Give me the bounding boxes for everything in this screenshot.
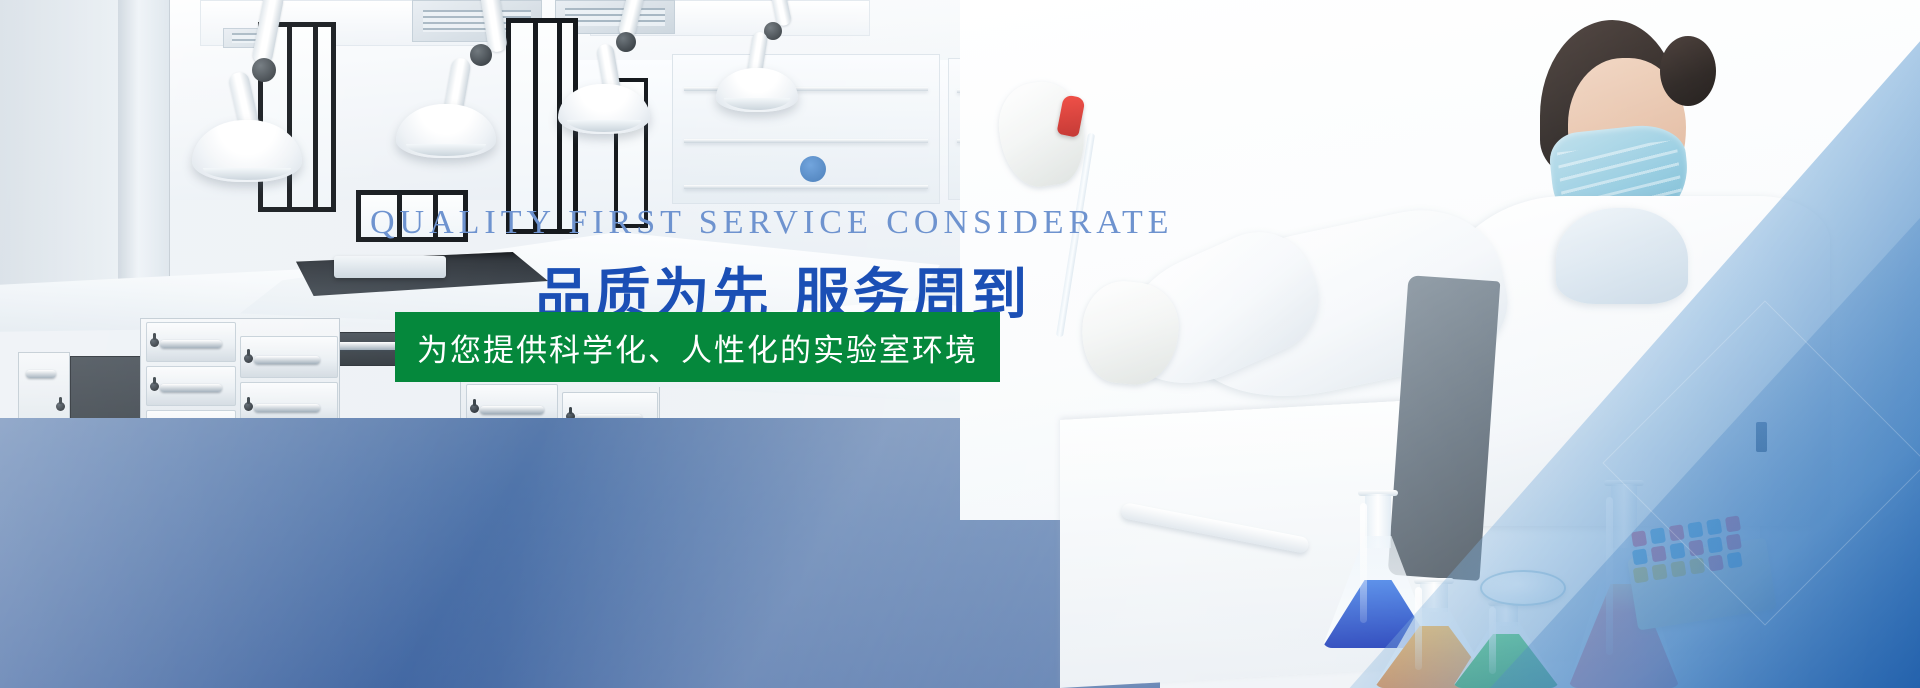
subtitle-chinese: 为您提供科学化、人性化的实验室环境 [417,325,978,370]
english-tagline: QUALITY FIRST SERVICE CONSIDERATE [370,204,1030,242]
banner-text-overlay: QUALITY FIRST SERVICE CONSIDERATE 品质为先 服… [0,0,1920,688]
lab-hero-banner: QUALITY FIRST SERVICE CONSIDERATE 品质为先 服… [0,0,1920,688]
subtitle-green-bar: 为您提供科学化、人性化的实验室环境 [395,312,1000,382]
